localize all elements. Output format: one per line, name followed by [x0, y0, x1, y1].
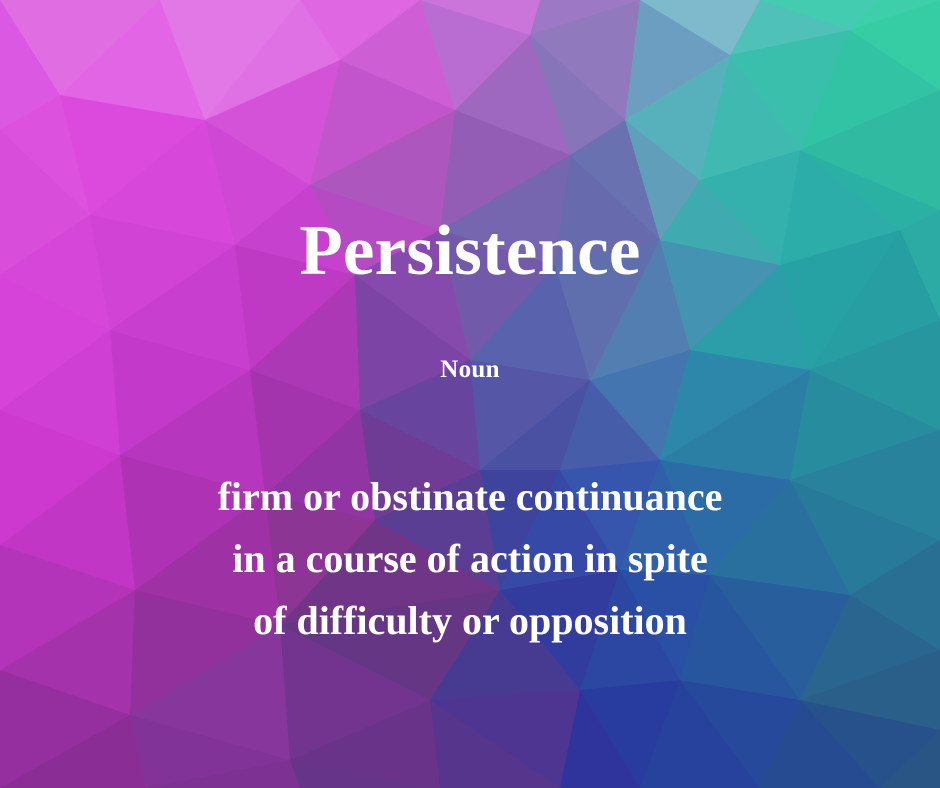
vocabulary-card: Persistence Noun firm or obstinate conti… [0, 0, 940, 788]
part-of-speech-label: Noun [0, 357, 940, 382]
definition-line-2: in a course of action in spite [0, 528, 940, 590]
definition-text: firm or obstinate continuance in a cours… [0, 466, 940, 652]
definition-line-1: firm or obstinate continuance [0, 466, 940, 528]
page-title: Persistence [0, 216, 940, 287]
definition-line-3: of difficulty or opposition [0, 590, 940, 652]
card-content: Persistence Noun firm or obstinate conti… [0, 0, 940, 788]
